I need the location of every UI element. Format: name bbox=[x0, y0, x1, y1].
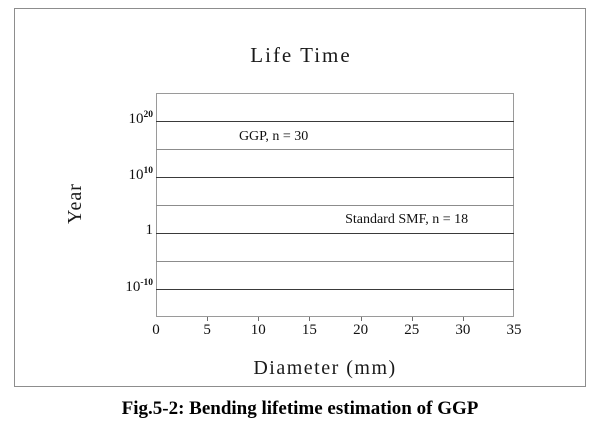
gridline bbox=[156, 205, 514, 206]
gridline bbox=[156, 289, 514, 290]
x-axis-tick-label: 35 bbox=[507, 322, 522, 339]
chart-title: Life Time bbox=[15, 43, 587, 68]
x-axis-tick-label: 10 bbox=[251, 322, 266, 339]
y-axis-tick-label: 1020 bbox=[129, 110, 154, 128]
x-axis-tick-label: 0 bbox=[152, 322, 160, 339]
x-axis-tick-label: 30 bbox=[455, 322, 470, 339]
x-axis-tick-label: 25 bbox=[404, 322, 419, 339]
x-axis-tick bbox=[412, 317, 413, 321]
gridline bbox=[156, 177, 514, 178]
y-axis-title: Year bbox=[63, 159, 87, 249]
gridline bbox=[156, 149, 514, 150]
gridline bbox=[156, 261, 514, 262]
plot-area: GGP, n = 30Standard SMF, n = 18 bbox=[156, 93, 514, 317]
x-axis-tick bbox=[258, 317, 259, 321]
figure-panel: Life Time Year 10-10110101020 GGP, n = 3… bbox=[14, 8, 586, 387]
y-axis-tick-label: 1010 bbox=[129, 166, 154, 184]
x-axis-tick bbox=[207, 317, 208, 321]
y-axis-tick-label: 1 bbox=[146, 222, 154, 239]
y-axis-tick-label: 10-10 bbox=[125, 278, 153, 296]
x-axis-tick bbox=[309, 317, 310, 321]
x-axis-tick-label: 5 bbox=[203, 322, 211, 339]
x-axis-tick-label: 15 bbox=[302, 322, 317, 339]
y-axis-tick-labels: 10-10110101020 bbox=[87, 93, 153, 317]
series-label-1: GGP, n = 30 bbox=[239, 129, 308, 145]
x-axis-tick-label: 20 bbox=[353, 322, 368, 339]
x-axis-title: Diameter (mm) bbox=[145, 357, 505, 380]
x-axis-tick bbox=[361, 317, 362, 321]
series-label-2: Standard SMF, n = 18 bbox=[345, 212, 468, 228]
gridline bbox=[156, 233, 514, 234]
x-axis-tick bbox=[463, 317, 464, 321]
gridline bbox=[156, 121, 514, 122]
figure-caption: Fig.5-2: Bending lifetime estimation of … bbox=[0, 398, 600, 420]
x-axis-tick-labels: 05101520253035 bbox=[156, 322, 514, 348]
